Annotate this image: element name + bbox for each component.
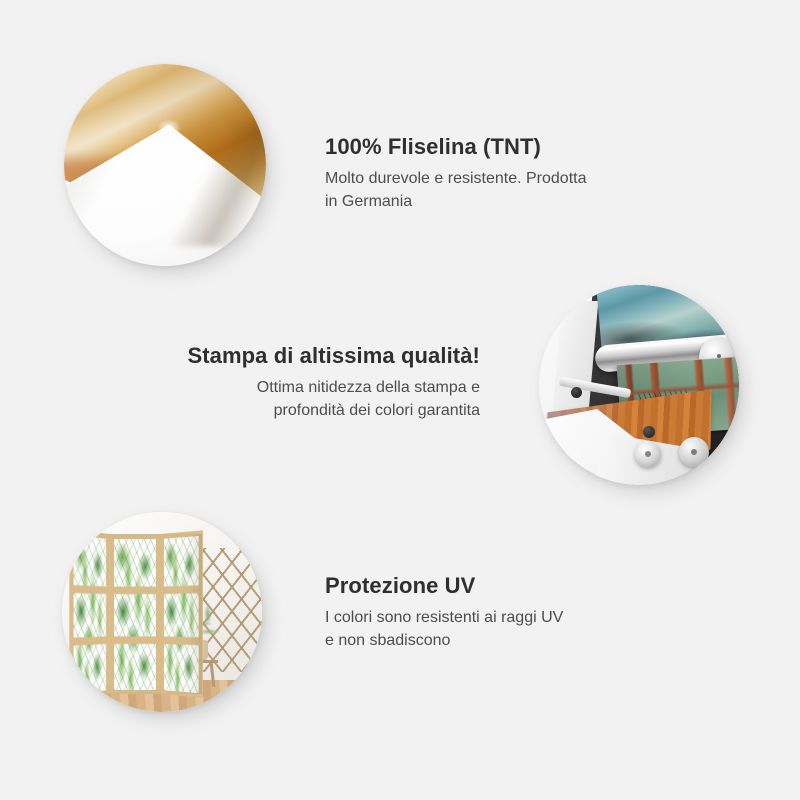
feature-text-stampa-qualita: Stampa di altissima qualità! Ottima niti… — [138, 343, 480, 423]
printer-knob-center — [643, 426, 655, 438]
feature-text-protezione-uv: Protezione UV I colori sono resistenti a… — [325, 573, 665, 653]
folding-room-divider — [70, 534, 202, 694]
feature-text-fliselina: 100% Fliselina (TNT) Molto durevole e re… — [325, 134, 665, 214]
wallpaper-flap-shading-right — [153, 121, 266, 246]
printer-knob-left — [571, 387, 582, 398]
wallpaper-fold-apex-highlight — [157, 119, 181, 137]
feature-description-line: I colori sono resistenti ai raggi UV — [325, 609, 563, 626]
tropical-leaf-pattern — [74, 535, 106, 694]
feature-description: Molto durevole e resistente. Prodotta in… — [325, 168, 665, 213]
printer-image — [539, 285, 739, 485]
divider-panel — [160, 530, 203, 697]
printer-pressure-wheel-right — [679, 437, 709, 467]
feature-description-line: profondità dei colori garantita — [274, 402, 480, 419]
feature-description: I colori sono resistenti ai raggi UV e n… — [325, 607, 665, 652]
features-banner: 100% Fliselina (TNT) Molto durevole e re… — [0, 0, 800, 800]
feature-title: 100% Fliselina (TNT) — [325, 134, 665, 159]
feature-title: Protezione UV — [325, 573, 665, 598]
tropical-leaf-pattern — [164, 536, 199, 693]
large-format-printer-photo — [539, 285, 739, 485]
feature-description-line: Molto durevole e resistente. Prodotta — [325, 170, 586, 187]
room-divider-image — [62, 512, 262, 712]
divider-panel — [110, 534, 160, 694]
wallpaper-peel-photo — [64, 64, 266, 266]
printer-pressure-wheel-left — [635, 441, 661, 467]
feature-description-line: in Germania — [325, 193, 412, 210]
divider-panel — [69, 529, 109, 698]
feature-description: Ottima nitidezza della stampa e profondi… — [138, 377, 480, 422]
feature-description-line: e non sbadiscono — [325, 632, 450, 649]
wallpaper-peel-image — [64, 64, 266, 266]
feature-description-line: Ottima nitidezza della stampa e — [257, 379, 480, 396]
tropical-room-divider-photo — [62, 512, 262, 712]
tropical-leaf-pattern — [114, 539, 156, 690]
feature-title: Stampa di altissima qualità! — [138, 343, 480, 368]
